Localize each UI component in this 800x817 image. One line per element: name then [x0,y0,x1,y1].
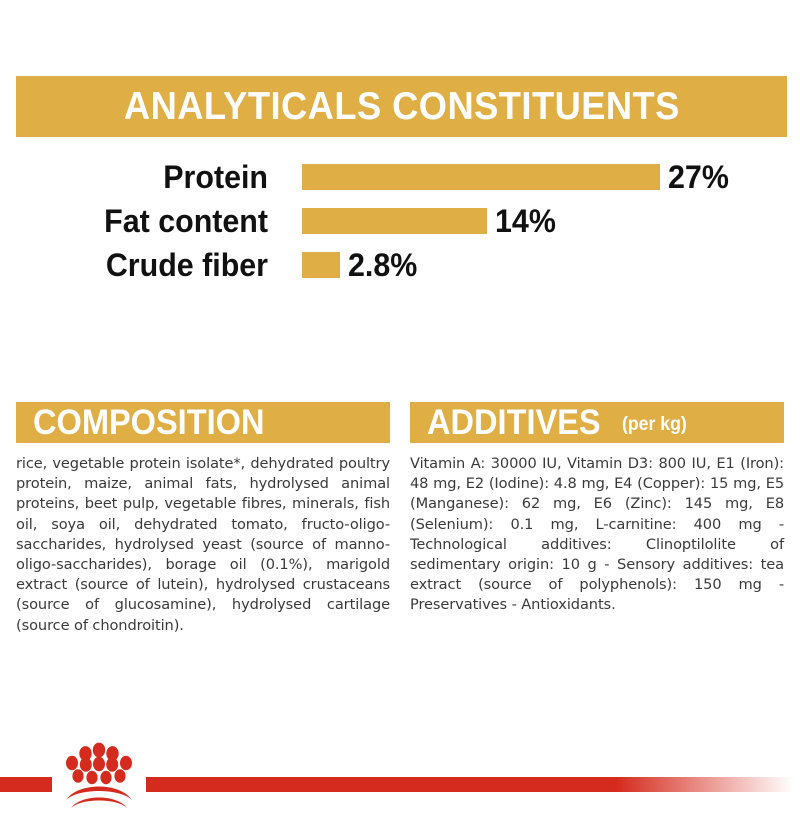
info-panels: COMPOSITION rice, vegetable protein isol… [16,402,787,636]
additives-header-title: ADDITIVES [427,405,601,440]
chart-row-fat-content: Fat content 14% [0,199,800,243]
chart-value-protein: 27% [668,161,729,193]
analyticals-constituents-header: ANALYTICALS CONSTITUENTS [16,76,787,137]
chart-bar-protein [302,164,660,190]
main-header-title: ANALYTICALS CONSTITUENTS [124,87,680,126]
composition-header-title: COMPOSITION [33,405,264,440]
additives-header: ADDITIVES (per kg) [410,402,784,443]
analyticals-bar-chart: Protein 27% Fat content 14% Crude fiber … [0,155,800,287]
chart-bar-wrap-crude-fiber: 2.8% [302,252,790,278]
nutrition-info-panel: ANALYTICALS CONSTITUENTS Protein 27% Fat… [0,0,800,800]
chart-value-fat-content: 14% [495,205,556,237]
chart-bar-wrap-protein: 27% [302,164,790,190]
chart-label-protein: Protein [13,161,268,193]
red-stripe-right [146,777,800,792]
additives-body-text: Vitamin A: 30000 IU, Vitamin D3: 800 IU,… [410,454,784,616]
chart-row-crude-fiber: Crude fiber 2.8% [0,243,800,287]
additives-panel: ADDITIVES (per kg) Vitamin A: 30000 IU, … [410,402,784,636]
red-stripe-left [0,777,52,792]
composition-header: COMPOSITION [16,402,390,443]
chart-label-crude-fiber: Crude fiber [13,249,268,281]
chart-bar-crude-fiber [302,252,340,278]
composition-body-text: rice, vegetable protein isolate*, dehydr… [16,454,390,636]
chart-value-crude-fiber: 2.8% [348,249,417,281]
additives-header-subtitle: (per kg) [622,415,687,434]
composition-panel: COMPOSITION rice, vegetable protein isol… [16,402,390,636]
footer [0,690,800,800]
royal-canin-crown-icon [54,738,144,812]
chart-row-protein: Protein 27% [0,155,800,199]
chart-label-fat-content: Fat content [13,205,268,237]
chart-bar-fat-content [302,208,487,234]
chart-bar-wrap-fat-content: 14% [302,208,790,234]
